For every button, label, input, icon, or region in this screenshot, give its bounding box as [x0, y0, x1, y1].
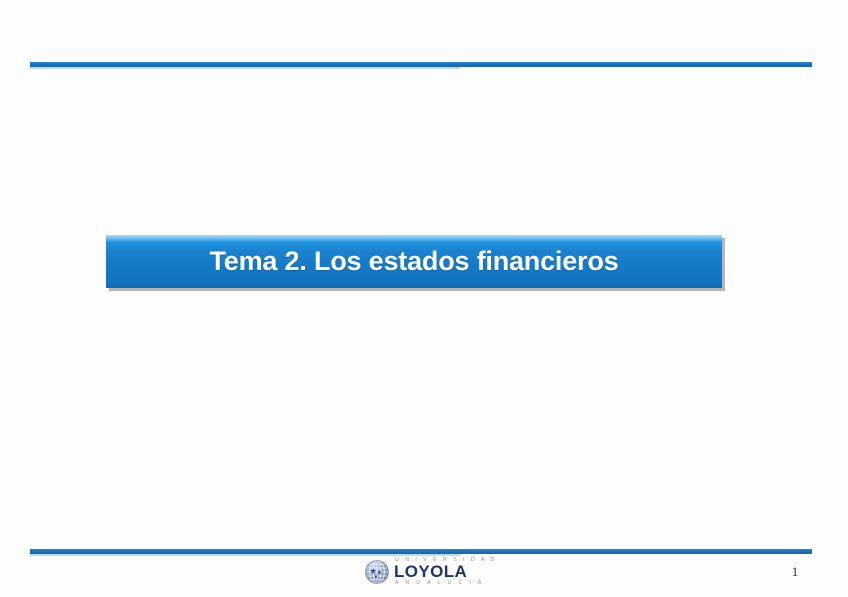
- globe-icon: [364, 559, 390, 585]
- university-logo: U N I V E R S I D A D LOYOLA A N D A L U…: [364, 558, 497, 586]
- page-title: Tema 2. Los estados financieros: [210, 248, 619, 276]
- title-banner: Tema 2. Los estados financieros: [106, 235, 722, 288]
- top-divider-rule: [30, 62, 812, 67]
- bottom-divider-rule: [30, 549, 812, 554]
- logo-wordmark: U N I V E R S I D A D LOYOLA A N D A L U…: [394, 558, 497, 587]
- title-banner-box: Tema 2. Los estados financieros: [106, 235, 722, 288]
- slide-canvas: Tema 2. Los estados financieros: [0, 0, 848, 597]
- page-number: 1: [780, 564, 810, 580]
- logo-line-loyola: LOYOLA: [394, 564, 497, 580]
- logo-line-andalucia: A N D A L U C I A: [394, 581, 497, 586]
